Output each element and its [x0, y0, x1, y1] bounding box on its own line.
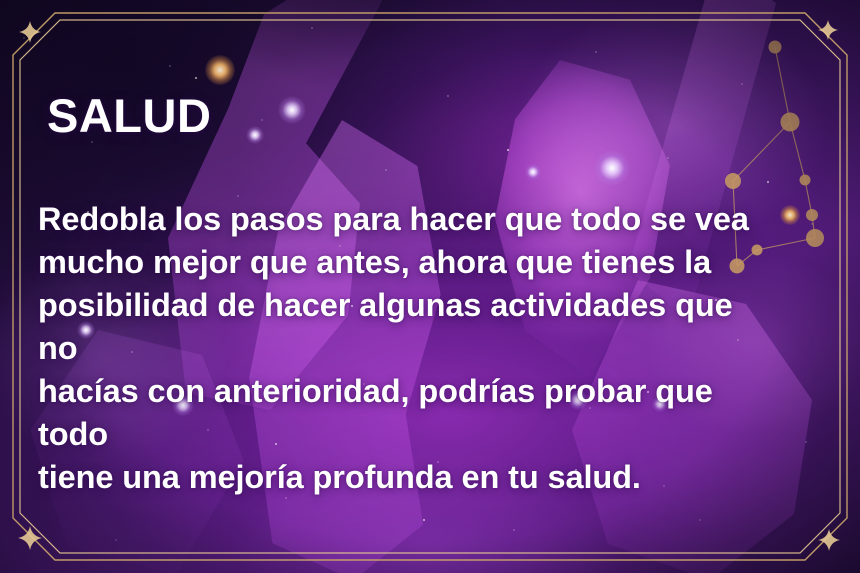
horoscope-card: SALUD Redobla los pasos para hacer que t… [0, 0, 860, 573]
page-title: SALUD [47, 92, 211, 139]
horoscope-body: Redobla los pasos para hacer que todo se… [38, 198, 768, 499]
text-content: SALUD Redobla los pasos para hacer que t… [0, 0, 860, 573]
